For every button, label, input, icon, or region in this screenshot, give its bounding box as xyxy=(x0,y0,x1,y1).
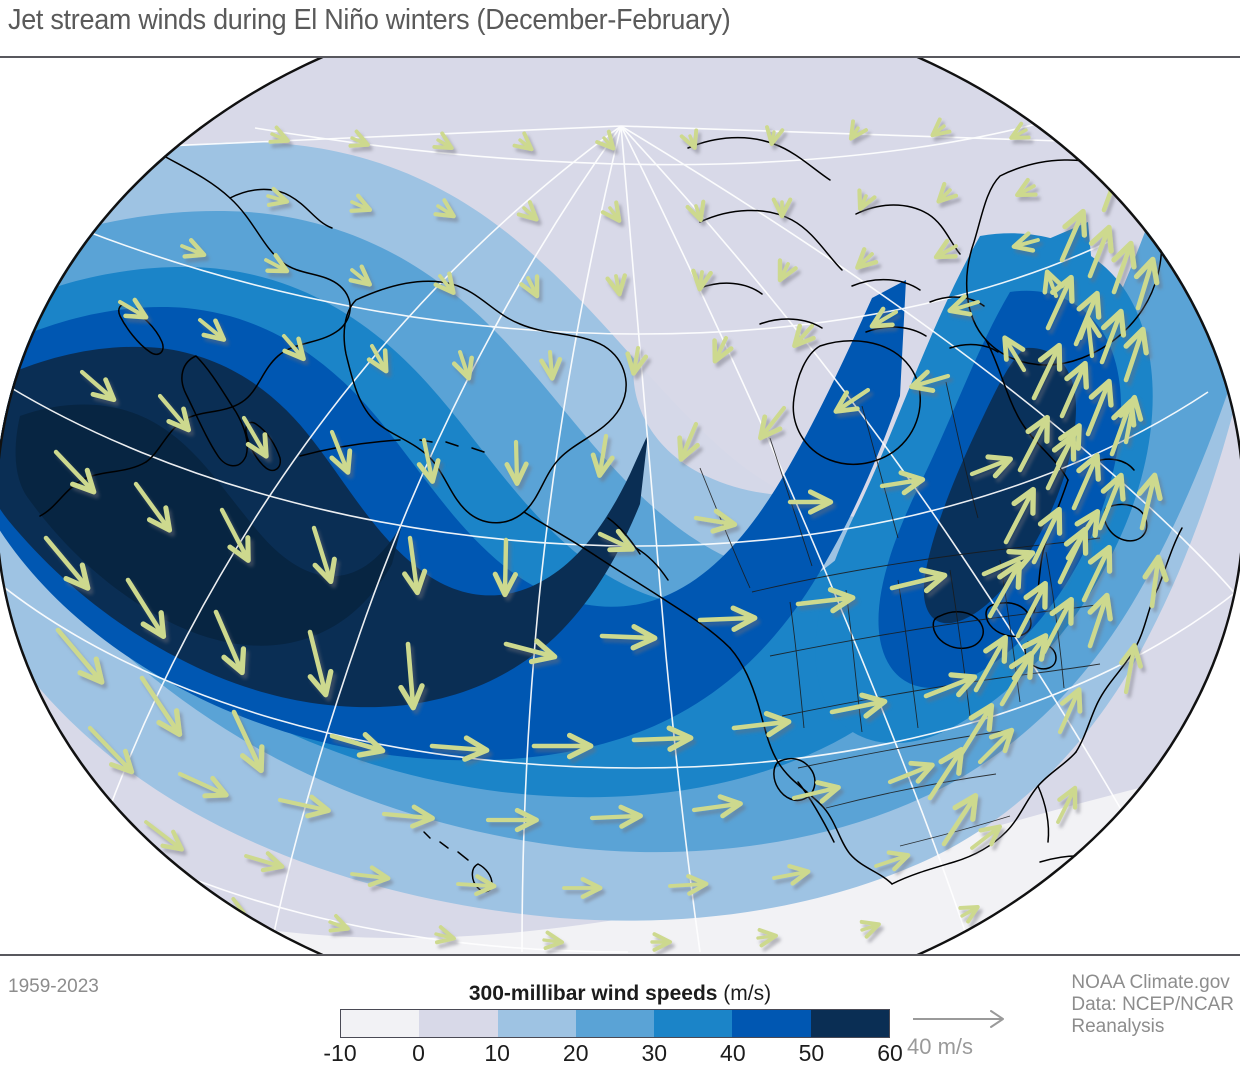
colorbar-tick-30: 30 xyxy=(641,1040,667,1067)
colorbar-swatch-0 xyxy=(341,1010,419,1037)
globe-contents xyxy=(0,56,1240,956)
colorbar-tick-50: 50 xyxy=(799,1040,825,1067)
credit-line-3: Reanalysis xyxy=(1071,1016,1234,1038)
colorbar-swatch-2 xyxy=(498,1010,576,1037)
colorbar-tick-10: 10 xyxy=(484,1040,510,1067)
map-frame xyxy=(0,56,1240,956)
colorbar-tick-60: 60 xyxy=(877,1040,903,1067)
colorbar-ticks: -100102030405060 xyxy=(340,1040,890,1070)
colorbar-title-main: 300-millibar wind speeds xyxy=(469,982,718,1005)
globe-map[interactable] xyxy=(0,56,1240,956)
colorbar-swatch-6 xyxy=(811,1010,889,1037)
colorbar-tick-20: 20 xyxy=(563,1040,589,1067)
colorbar-tick--10: -10 xyxy=(323,1040,356,1067)
page-title: Jet stream winds during El Niño winters … xyxy=(8,4,730,37)
footer: 1959-2023 NOAA Climate.gov Data: NCEP/NC… xyxy=(0,956,1240,1080)
orthographic-globe-svg[interactable] xyxy=(0,56,1240,956)
colorbar[interactable] xyxy=(340,1009,890,1038)
colorbar-title: 300-millibar wind speeds (m/s) xyxy=(0,982,1240,1006)
vector-key: 40 m/s xyxy=(905,1006,1025,1066)
colorbar-title-unit: (m/s) xyxy=(717,982,771,1005)
colorbar-tick-40: 40 xyxy=(720,1040,746,1067)
colorbar-tick-0: 0 xyxy=(412,1040,425,1067)
colorbar-swatch-3 xyxy=(576,1010,654,1037)
colorbar-swatch-5 xyxy=(732,1010,810,1037)
right-arrow-icon xyxy=(905,1006,1025,1034)
colorbar-swatch-4 xyxy=(654,1010,732,1037)
colorbar-swatch-1 xyxy=(419,1010,497,1037)
vector-key-label: 40 m/s xyxy=(907,1034,973,1060)
